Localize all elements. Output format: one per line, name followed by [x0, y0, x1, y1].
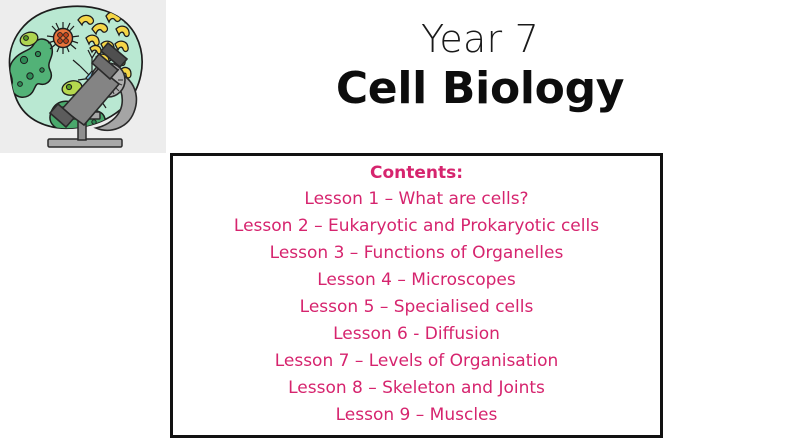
- page-title: Cell Biology: [166, 62, 794, 116]
- microscope-and-cells-illustration: [0, 0, 166, 153]
- list-item: Lesson 4 – Microscopes: [179, 267, 654, 294]
- list-item: Lesson 1 – What are cells?: [179, 186, 654, 213]
- slide-canvas: Year 7 Cell Biology Contents: Lesson 1 –…: [0, 0, 794, 445]
- title-block: Year 7 Cell Biology: [166, 0, 794, 150]
- list-item: Lesson 3 – Functions of Organelles: [179, 240, 654, 267]
- illustration-svg: [0, 0, 166, 153]
- list-item: Lesson 7 – Levels of Organisation: [179, 348, 654, 375]
- list-item: Lesson 8 – Skeleton and Joints: [179, 375, 654, 402]
- list-item: Lesson 2 – Eukaryotic and Prokaryotic ce…: [179, 213, 654, 240]
- contents-lesson-list: Lesson 1 – What are cells? Lesson 2 – Eu…: [179, 186, 654, 429]
- contents-box: Contents: Lesson 1 – What are cells? Les…: [170, 153, 663, 438]
- page-subtitle-year: Year 7: [166, 16, 794, 62]
- list-item: Lesson 6 - Diffusion: [179, 321, 654, 348]
- list-item: Lesson 5 – Specialised cells: [179, 294, 654, 321]
- contents-heading: Contents:: [179, 161, 654, 185]
- list-item: Lesson 9 – Muscles: [179, 402, 654, 429]
